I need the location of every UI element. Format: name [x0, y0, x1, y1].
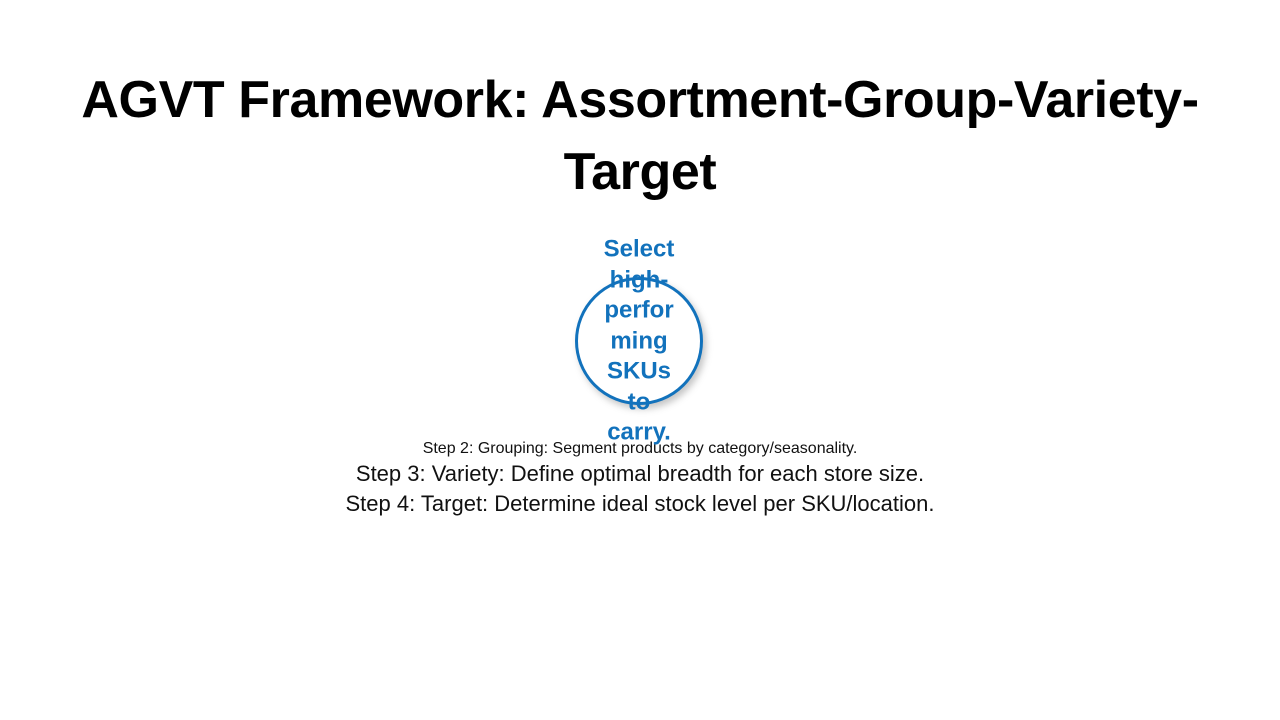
- step-text-target: Step 4: Target: Determine ideal stock le…: [0, 489, 1280, 519]
- page-title: AGVT Framework: Assortment-Group-Variety…: [64, 64, 1216, 208]
- diagram-node-label: Select high-performing SKUs to carry.: [599, 234, 679, 448]
- step-text-grouping: Step 2: Grouping: Segment products by ca…: [0, 438, 1280, 460]
- diagram-node-assortment[interactable]: Select high-performing SKUs to carry.: [575, 277, 703, 405]
- step-text-variety: Step 3: Variety: Define optimal breadth …: [0, 459, 1280, 489]
- slide-canvas: AGVT Framework: Assortment-Group-Variety…: [0, 0, 1280, 720]
